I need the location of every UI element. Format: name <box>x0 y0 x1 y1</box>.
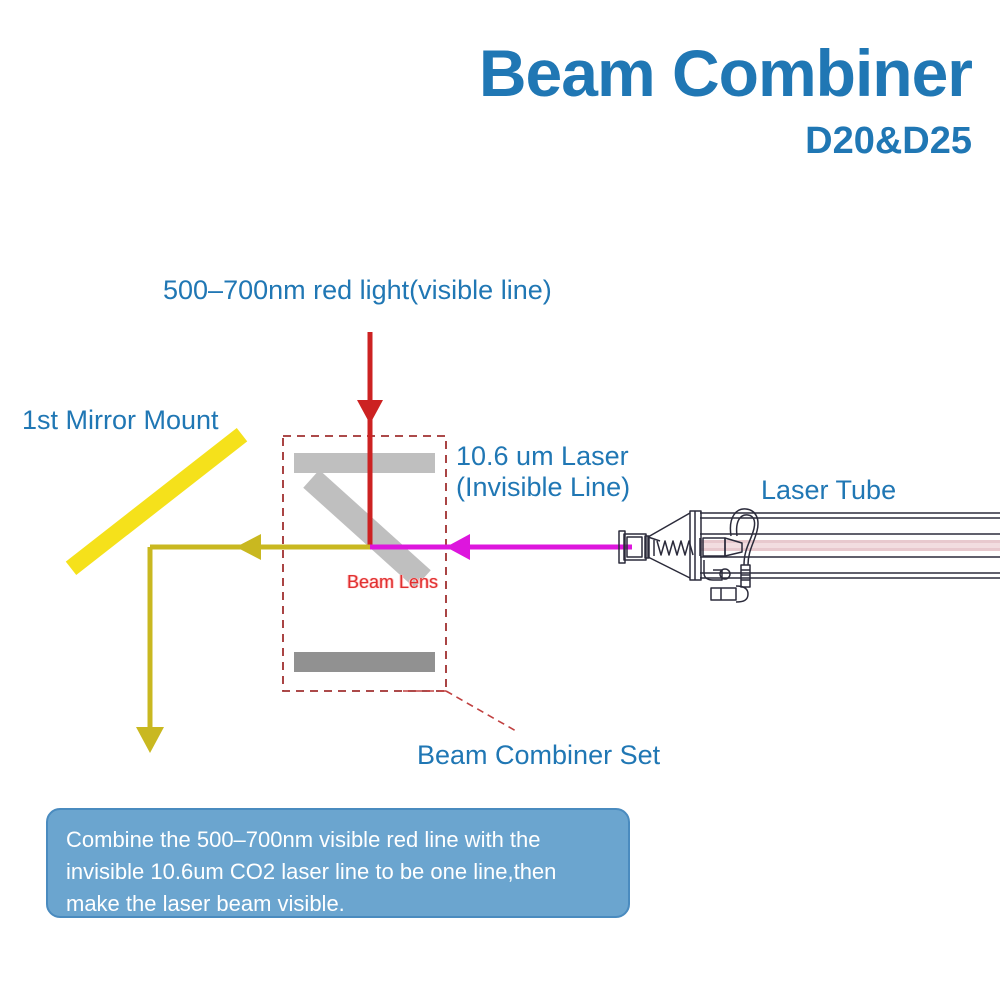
label-laser-tube: Laser Tube <box>761 475 896 506</box>
red-beam-arrowhead <box>357 400 383 424</box>
laser-tube <box>619 509 1000 602</box>
combiner-bottom-plate <box>294 652 435 672</box>
label-laser-line1: 10.6 um Laser <box>456 441 629 471</box>
beam-lens-element <box>303 470 431 588</box>
caption-box: Combine the 500–700nm visible red line w… <box>46 808 630 918</box>
yellow-beam-arrowhead-left <box>236 534 261 560</box>
label-laser-wavelength: 10.6 um Laser(Invisible Line) <box>456 441 630 503</box>
label-beam-lens: Beam Lens <box>347 572 438 593</box>
diagram-canvas: Beam Combiner D20&D25 <box>0 0 1000 1000</box>
label-laser-line2: (Invisible Line) <box>456 472 630 502</box>
label-red-light: 500–700nm red light(visible line) <box>163 275 552 306</box>
label-beam-combiner-set: Beam Combiner Set <box>417 740 660 771</box>
combiner-leader-line <box>400 691 516 731</box>
magenta-beam-arrowhead <box>446 534 470 560</box>
label-mirror-mount: 1st Mirror Mount <box>22 405 219 436</box>
first-mirror-element <box>66 428 247 575</box>
yellow-beam-arrowhead-down <box>136 727 164 753</box>
combiner-top-plate <box>294 453 435 473</box>
